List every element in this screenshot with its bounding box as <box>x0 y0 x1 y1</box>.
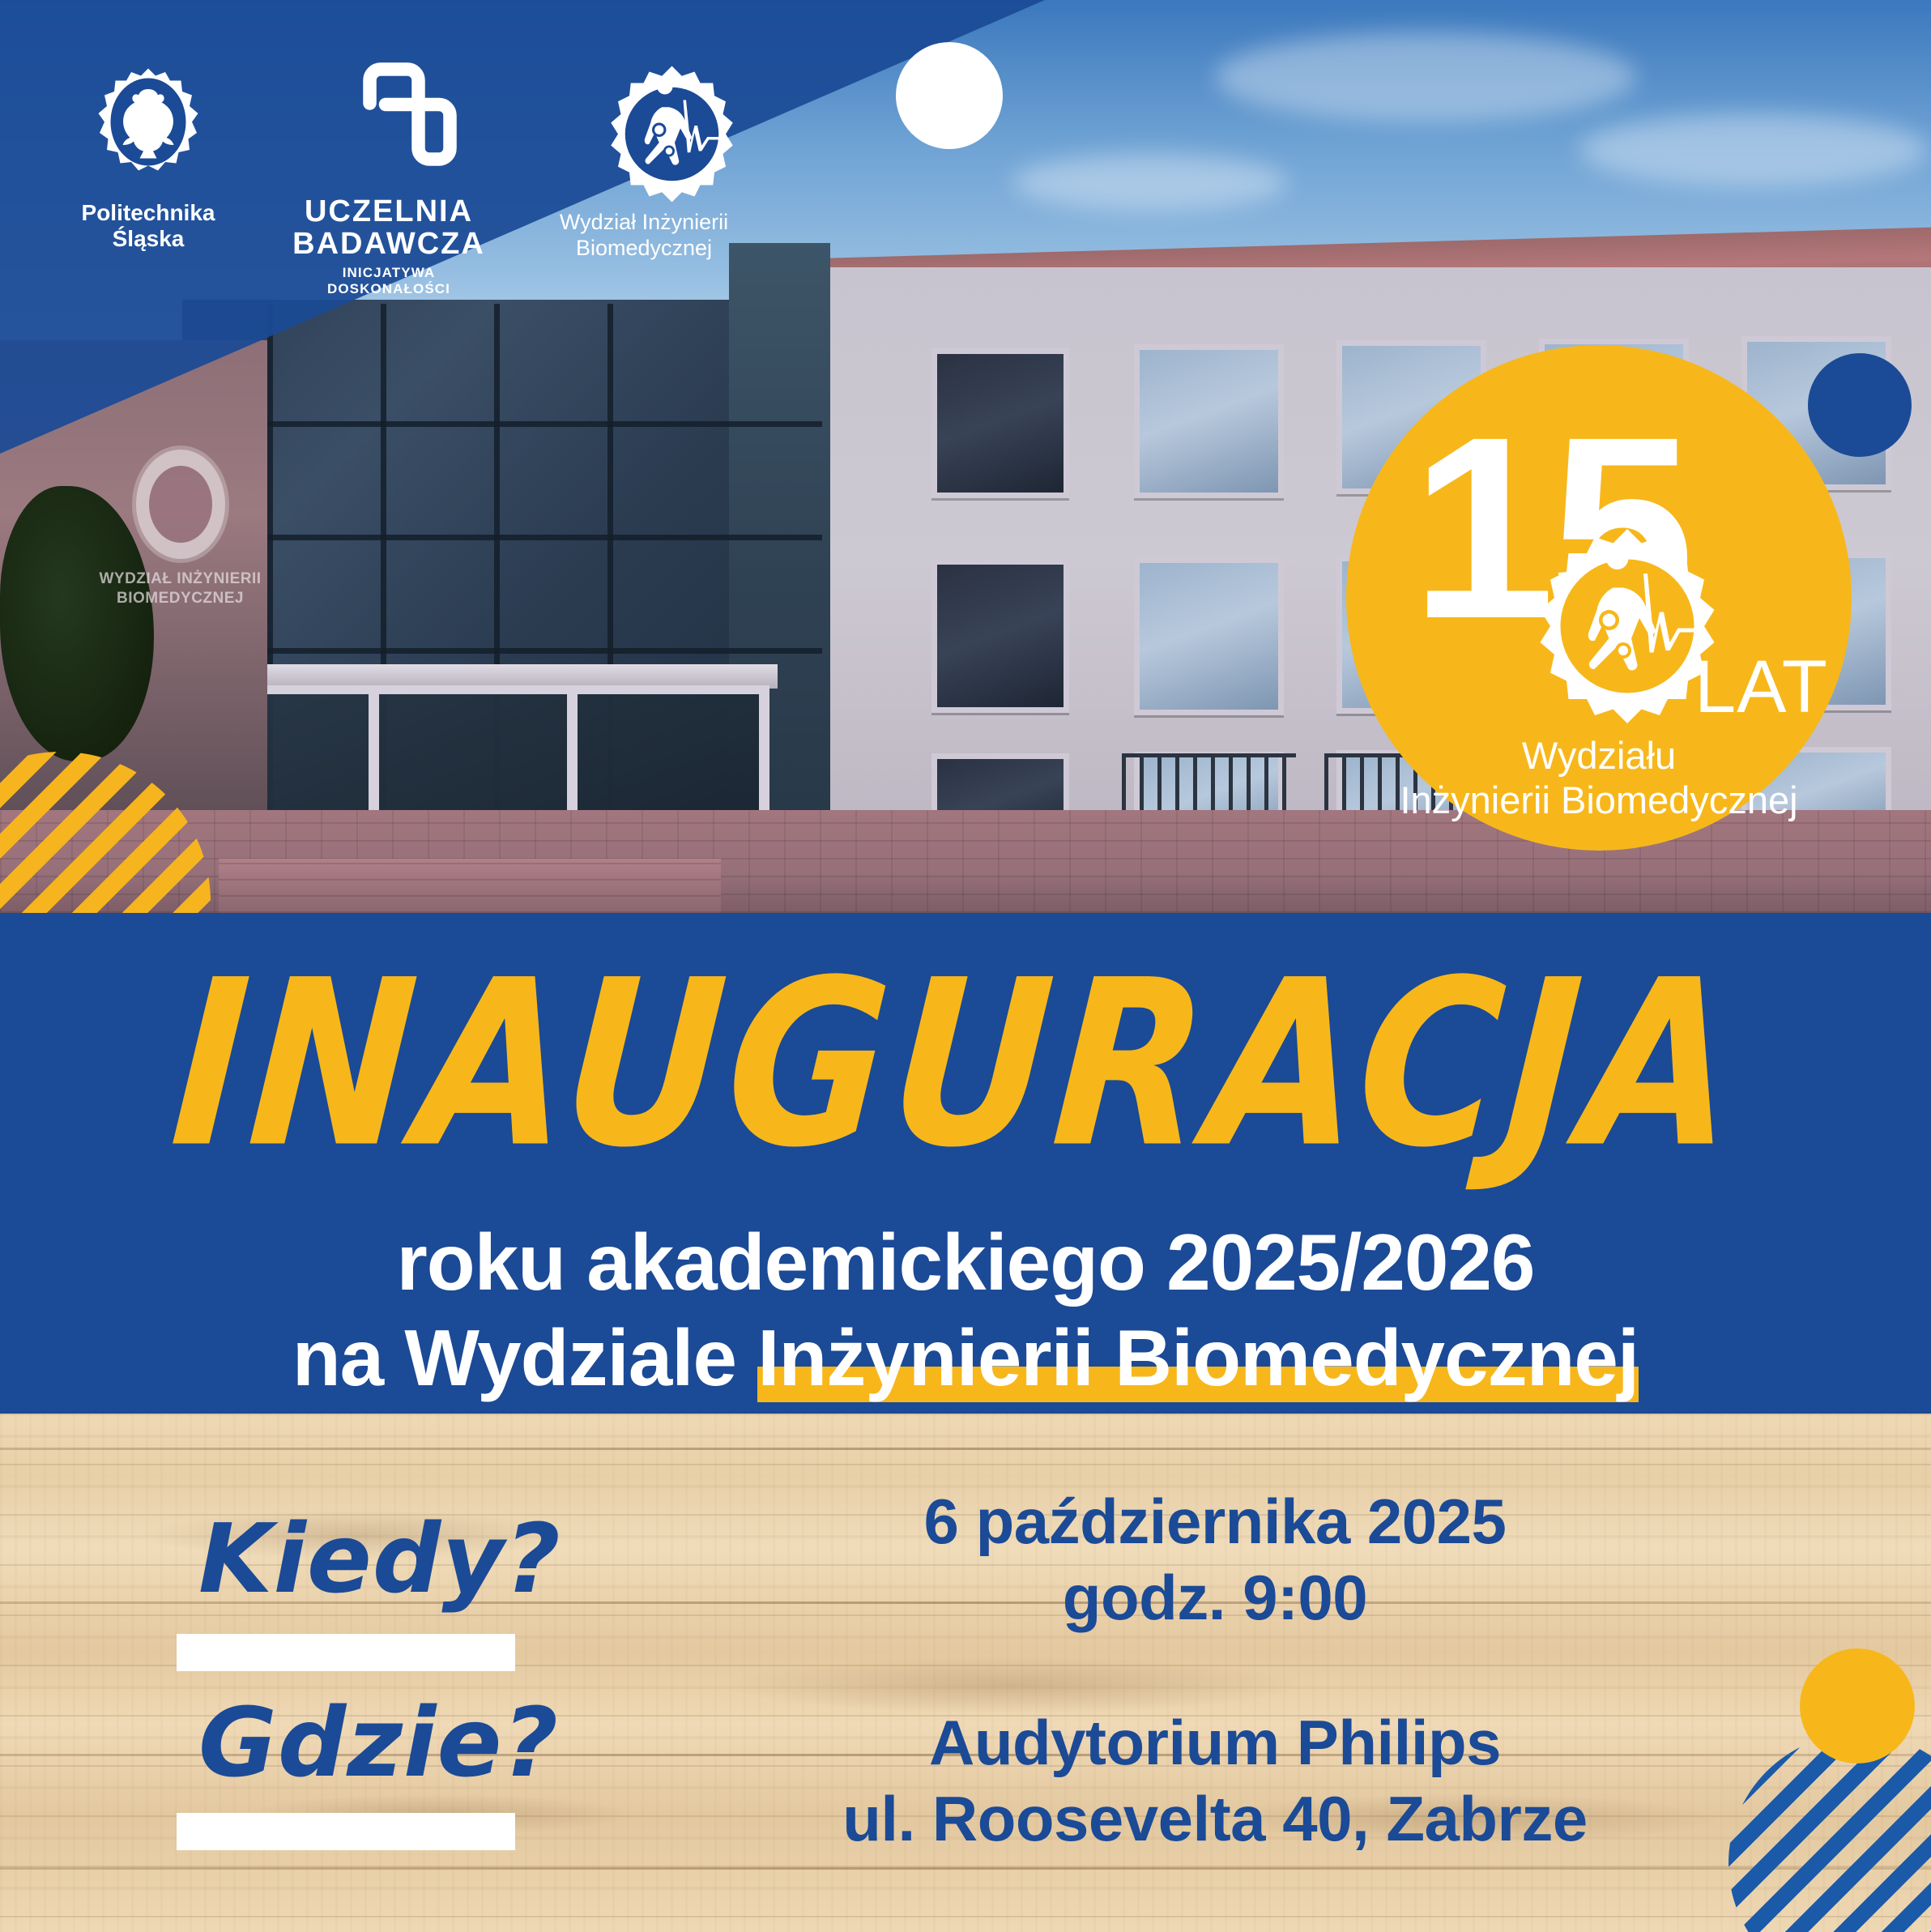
kiedy-label: Kiedy? <box>198 1503 561 1614</box>
venue-address: ul. Roosevelta 40, Zabrze <box>810 1781 1620 1857</box>
event-datetime: 6 października 2025 godz. 9:00 <box>810 1484 1620 1636</box>
kiedy-underline <box>177 1634 515 1671</box>
wall-plaque-line2: BIOMEDYCZNEJ <box>97 589 263 608</box>
wall-plaque-line1: WYDZIAŁ INŻYNIERII <box>97 569 263 589</box>
logo-politechnika-caption: Politechnika Śląska <box>63 200 233 253</box>
page-title: INAUGURACJA <box>0 949 1931 1179</box>
headline-panel: INAUGURACJA roku akademickiego 2025/2026… <box>0 913 1931 1414</box>
cloud <box>1579 113 1928 186</box>
logo-row: Politechnika Śląska UCZELNIA BADAWCZA IN… <box>0 0 810 324</box>
window <box>1134 344 1284 498</box>
white-circle-decoration <box>896 42 1003 149</box>
uczelnia-badawcza-mark-icon <box>344 58 466 192</box>
cloud <box>1012 154 1288 211</box>
gdzie-underline <box>177 1813 515 1850</box>
cloud <box>1215 32 1636 122</box>
logo-wib-line1: Wydział Inżynierii <box>518 209 769 235</box>
yellow-circle-decoration <box>1800 1648 1915 1764</box>
window <box>1134 557 1284 715</box>
subtitle-academic-year: roku akademickiego 2025/2026 <box>0 1222 1931 1302</box>
mullion <box>182 535 822 540</box>
event-venue: Audytorium Philips ul. Roosevelta 40, Za… <box>810 1705 1620 1857</box>
plank-seam <box>0 1448 1931 1450</box>
window <box>931 348 1069 498</box>
gdzie-label: Gdzie? <box>198 1687 559 1798</box>
logo-politechnika-slaska: Politechnika Śląska <box>63 65 233 253</box>
logo-ub-line1: UCZELNIA <box>288 196 490 228</box>
gear-runner-ecg-icon <box>601 63 743 205</box>
plank-seam <box>0 1867 1931 1870</box>
blue-circle-decoration <box>1808 353 1912 457</box>
subtitle-faculty-highlight: Inżynierii Biomedycznej <box>757 1313 1639 1402</box>
subtitle-faculty-prefix: na Wydziale <box>292 1313 757 1402</box>
logo-wib-caption: Wydział Inżynierii Biomedycznej <box>518 209 769 262</box>
subtitle-faculty: na Wydziale Inżynierii Biomedycznej <box>0 1318 1931 1397</box>
wall-plaque: WYDZIAŁ INŻYNIERII BIOMEDYCZNEJ <box>97 450 263 624</box>
logo-uczelnia-badawcza: UCZELNIA BADAWCZA INICJATYWA DOSKONAŁOŚC… <box>288 58 490 297</box>
gear-eagle-crest-icon <box>136 450 225 559</box>
logo-politechnika-line1: Politechnika <box>63 200 233 226</box>
event-time: godz. 9:00 <box>810 1560 1620 1636</box>
event-date: 6 października 2025 <box>810 1484 1620 1560</box>
anniversary-unit: LAT <box>1694 645 1828 730</box>
window <box>931 559 1069 713</box>
mullion <box>182 421 822 427</box>
subtitle-faculty-highlight-wrap: Inżynierii Biomedycznej <box>757 1318 1639 1397</box>
poster-root: WYDZIAŁ INŻYNIERII BIOMEDYCZNEJ Politech… <box>0 0 1931 1932</box>
anniversary-subject-line2: Inżynierii Biomedycznej <box>1346 778 1852 823</box>
anniversary-badge: 15 LAT Wydziału Inżynierii Biomedycznej <box>1346 345 1852 851</box>
wall-plaque-text: WYDZIAŁ INŻYNIERII BIOMEDYCZNEJ <box>97 569 263 609</box>
entrance-steps <box>219 859 721 913</box>
mullion <box>182 648 822 654</box>
anniversary-subject: Wydziału Inżynierii Biomedycznej <box>1346 734 1852 822</box>
logo-ub-line3: INICJATYWA DOSKONAŁOŚCI <box>288 265 490 297</box>
logo-ub-line2: BADAWCZA <box>288 228 490 261</box>
anniversary-subject-line1: Wydziału <box>1346 734 1852 778</box>
gear-eagle-crest-icon <box>63 65 233 186</box>
logo-wib-line2: Biomedycznej <box>518 235 769 261</box>
logo-politechnika-line2: Śląska <box>63 226 233 252</box>
logo-wydzial-inzynierii-biomedycznej: Wydział Inżynierii Biomedycznej <box>518 63 769 262</box>
venue-name: Audytorium Philips <box>810 1705 1620 1781</box>
